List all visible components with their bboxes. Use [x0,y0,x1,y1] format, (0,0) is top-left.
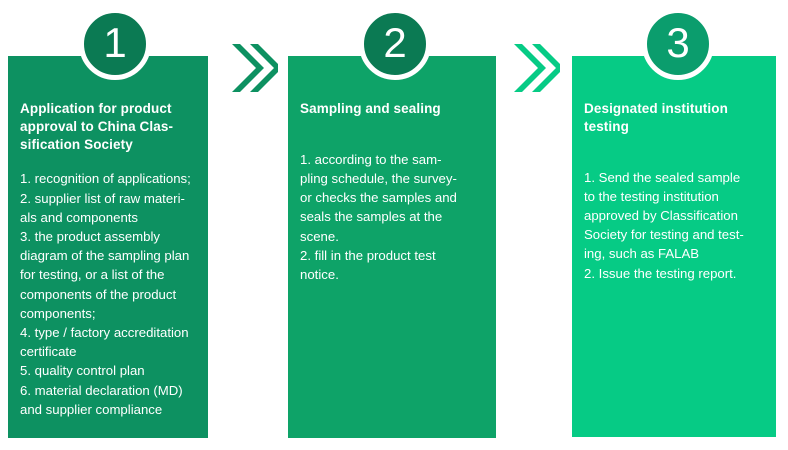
process-step-2-title: Sampling and sealing [300,100,484,118]
process-step-2-number: 2 [383,22,406,64]
process-step-1-content: Application for product approval to Chin… [8,56,208,438]
process-step-3-title: Designated institution testing [584,100,764,136]
process-flow-diagram: Application for product approval to Chin… [0,0,788,450]
chevron-right-icon-1 [230,40,278,101]
process-step-3-body: 1. Send the sealed sample to the testing… [584,168,764,283]
process-step-1-title: Application for product approval to Chin… [20,100,196,153]
process-step-3-number: 3 [666,22,689,64]
process-step-3: Designated institution testing 1. Send t… [572,56,776,437]
process-step-3-content: Designated institution testing 1. Send t… [572,56,776,437]
process-step-1-number-badge: 1 [79,8,151,80]
process-step-1-number: 1 [103,22,126,64]
process-step-2-number-badge: 2 [359,8,431,80]
process-step-3-number-badge: 3 [642,8,714,80]
process-step-2-body: 1. according to the sam- pling schedule,… [300,150,484,284]
chevron-right-icon-2 [512,40,560,101]
process-step-1: Application for product approval to Chin… [8,56,208,438]
process-step-2: Sampling and sealing 1. according to the… [288,56,496,438]
process-step-2-content: Sampling and sealing 1. according to the… [288,56,496,438]
process-step-1-body: 1. recognition of applications; 2. suppl… [20,169,196,419]
